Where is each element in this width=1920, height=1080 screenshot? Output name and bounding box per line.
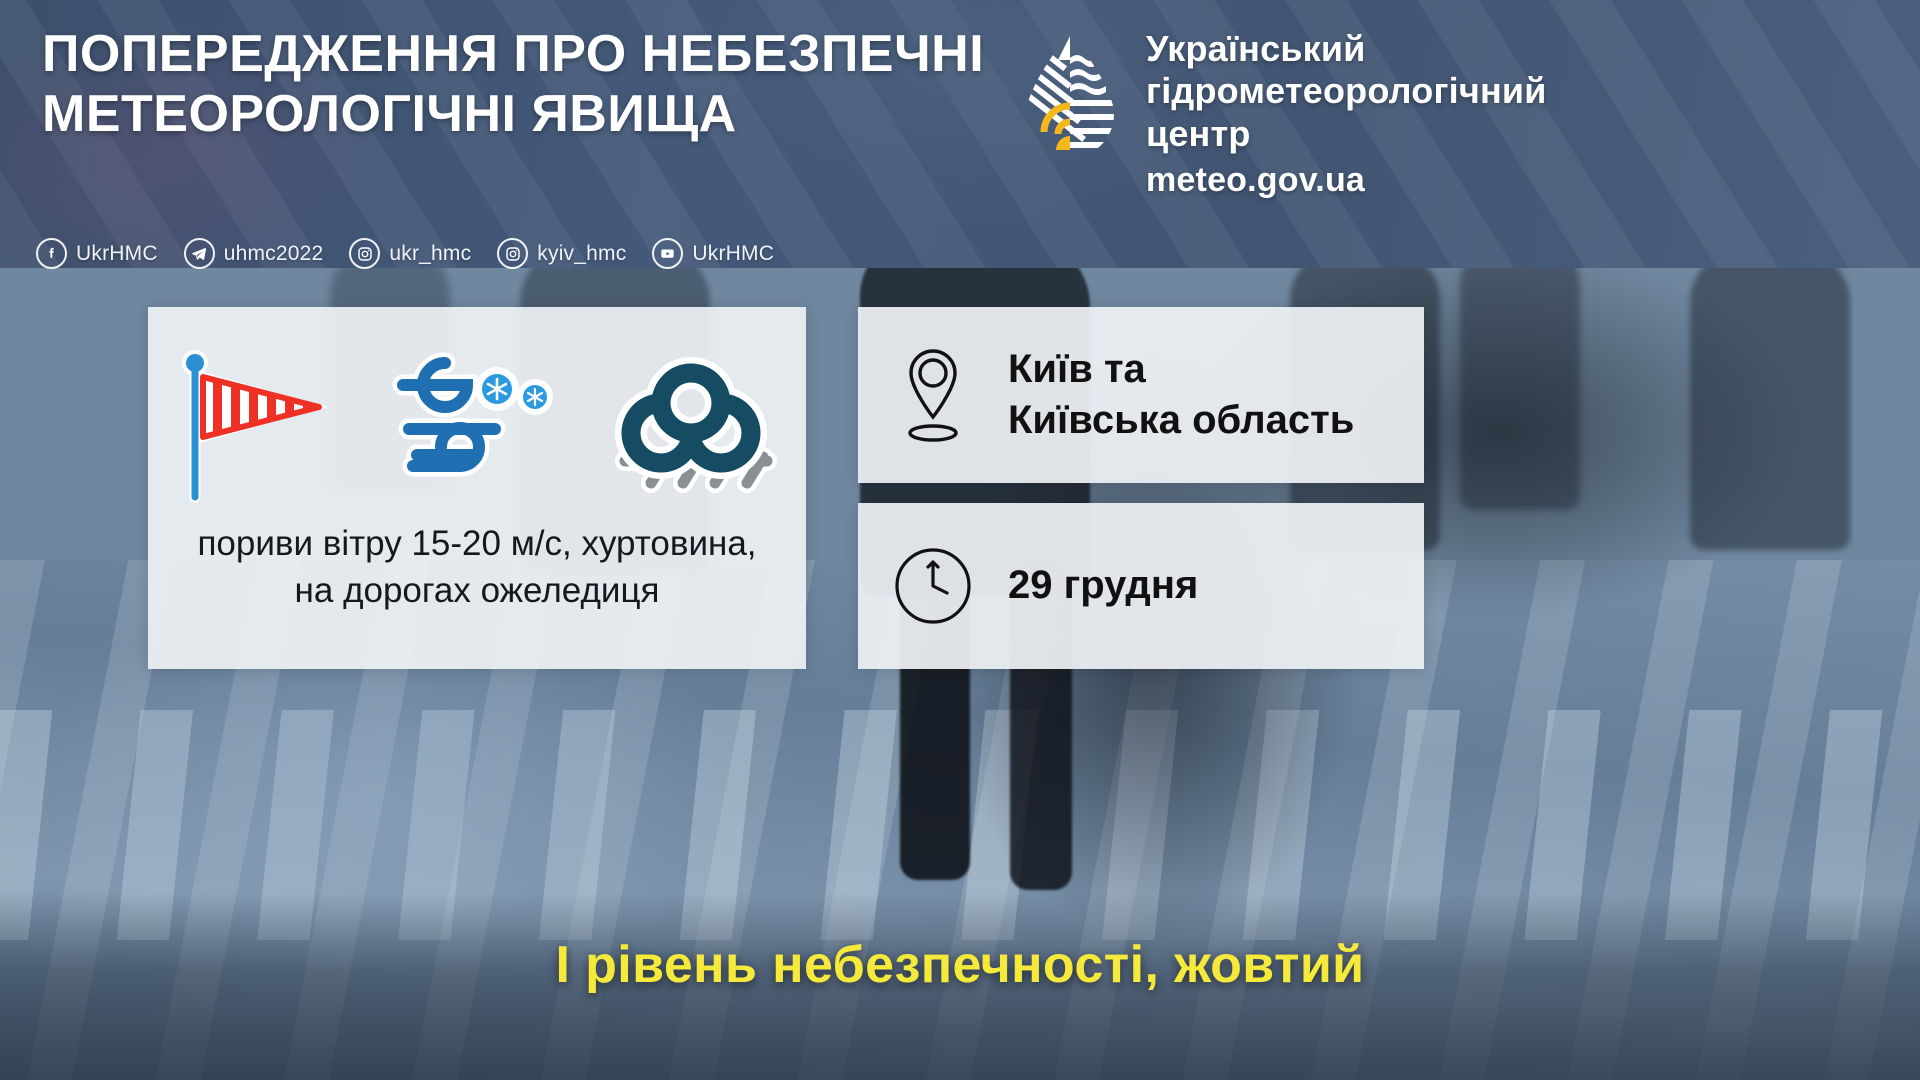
social-handle: ukr_hmc (389, 242, 471, 266)
icy-road-icon (605, 343, 785, 508)
pedestrian-silhouette (1690, 250, 1850, 550)
location-pin-icon (858, 343, 1008, 447)
org-line-1: Український (1146, 28, 1547, 70)
pedestrian-silhouette (1460, 240, 1580, 510)
social-handle: UkrHMC (76, 242, 158, 266)
warning-card: пориви вітру 15-20 м/с, хуртовина, на до… (148, 307, 806, 669)
org-line-2: гідрометеорологічний (1146, 70, 1547, 112)
page-title-line-2: МЕТЕОРОЛОГІЧНІ ЯВИЩА (42, 84, 984, 144)
danger-level-banner: I рівень небезпечності, жовтий (0, 892, 1920, 1080)
danger-level-text: I рівень небезпечності, жовтий (555, 935, 1364, 995)
water-drop-logo-icon (1018, 28, 1122, 165)
storm-warning-pennant-icon (169, 337, 337, 514)
organization-logo-block: Український гідрометеорологічний центр m… (1018, 28, 1547, 200)
organization-name: Український гідрометеорологічний центр m… (1146, 28, 1547, 200)
instagram-icon (497, 238, 528, 269)
page-title-line-1: ПОПЕРЕДЖЕННЯ ПРО НЕБЕЗПЕЧНІ (42, 24, 984, 84)
facebook-icon (36, 238, 67, 269)
youtube-icon (652, 238, 683, 269)
social-links: UkrHMC uhmc2022 ukr_hmc kyiv_hmc (36, 238, 774, 269)
instagram-icon (349, 238, 380, 269)
warning-description: пориви вітру 15-20 м/с, хуртовина, на до… (148, 521, 806, 614)
social-link-youtube[interactable]: UkrHMC (652, 238, 774, 269)
clock-icon (858, 543, 1008, 629)
warning-icons (169, 339, 785, 511)
region-label-line-1: Київ та (1008, 344, 1354, 395)
social-link-telegram[interactable]: uhmc2022 (184, 238, 324, 269)
page-title: ПОПЕРЕДЖЕННЯ ПРО НЕБЕЗПЕЧНІ МЕТЕОРОЛОГІЧ… (42, 24, 984, 145)
org-website-url: meteo.gov.ua (1146, 161, 1547, 200)
region-label-line-2: Київська область (1008, 395, 1354, 446)
social-link-instagram-ukr[interactable]: ukr_hmc (349, 238, 471, 269)
region-label: Київ та Київська область (1008, 344, 1354, 446)
date-card: 29 грудня (858, 503, 1424, 669)
social-link-facebook[interactable]: UkrHMC (36, 238, 158, 269)
social-handle: uhmc2022 (224, 242, 324, 266)
region-card: Київ та Київська область (858, 307, 1424, 483)
wind-snow-icon (383, 343, 559, 508)
date-label: 29 грудня (1008, 560, 1198, 611)
social-handle: UkrHMC (692, 242, 774, 266)
telegram-icon (184, 238, 215, 269)
org-line-3: центр (1146, 113, 1547, 155)
social-link-instagram-kyiv[interactable]: kyiv_hmc (497, 238, 626, 269)
social-handle: kyiv_hmc (537, 242, 626, 266)
